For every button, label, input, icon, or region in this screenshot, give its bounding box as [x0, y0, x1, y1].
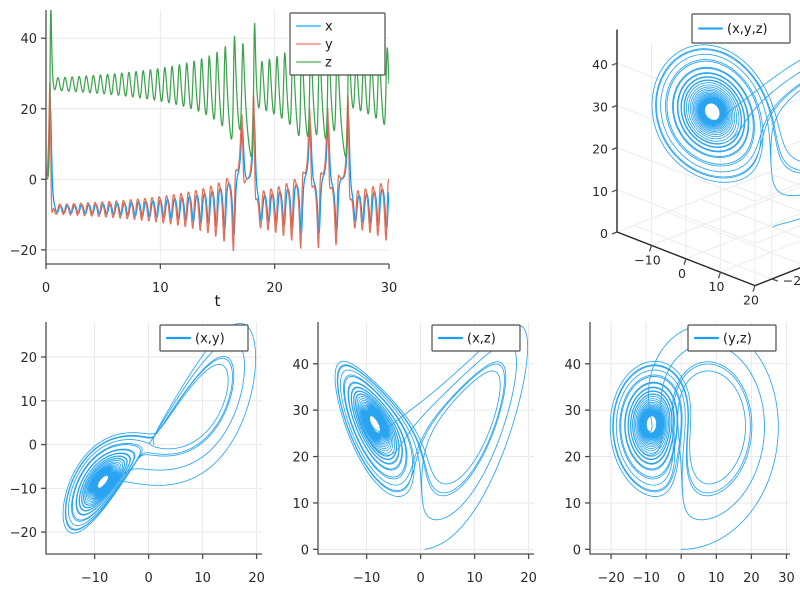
x-tick-label: 0	[144, 571, 152, 586]
x-tick-label: −10	[634, 252, 660, 267]
x-tick-label: 10	[194, 571, 211, 586]
panel-attractor3d: 010203040−1001020−20−1001020(x,y,z)	[400, 0, 800, 310]
z-tick-label: 20	[592, 142, 608, 157]
phase-xz-plot: −1001020010203040(x,z)	[272, 308, 544, 600]
x-tick-label: 20	[743, 293, 759, 308]
z-axis-ticks: 010203040	[592, 57, 617, 241]
x-tick-label: 30	[381, 281, 398, 296]
x-tick-label: −10	[632, 571, 659, 586]
z-tick-label: 30	[592, 99, 608, 114]
y-tick-label: 10	[292, 497, 309, 512]
x-tick-label: 20	[248, 571, 265, 586]
x-tick-label: 10	[708, 571, 725, 586]
y-tick-label: 10	[20, 395, 37, 410]
series-(x,y)	[63, 323, 256, 533]
y-axis-ticks: −2002040	[10, 32, 46, 259]
y-tick-label: 20	[20, 351, 37, 366]
axes	[318, 322, 534, 554]
x-tick-label: 0	[416, 571, 424, 586]
legend[interactable]: (y,z)	[688, 325, 776, 351]
y-tick-label: −10	[10, 482, 37, 497]
x-tick-label: 20	[743, 571, 760, 586]
y-tick-label: 0	[29, 439, 37, 454]
z-tick-label: 40	[592, 57, 608, 72]
series-(y,z)	[610, 325, 778, 549]
y-tick-label: 0	[29, 173, 37, 188]
x-tick-label: 10	[466, 571, 483, 586]
series-(x,y,z)	[652, 34, 800, 227]
y-tick-label: 20	[564, 451, 581, 466]
x-axis-ticks: −20−100102030	[597, 554, 794, 586]
data-trace-group	[335, 325, 528, 549]
y-tick-label: −20	[10, 526, 37, 541]
x-tick-label: 20	[520, 571, 537, 586]
phase-yz-plot: −20−100102030010203040(y,z)	[544, 308, 800, 600]
gridlines	[318, 322, 534, 554]
y-tick-label: 10	[564, 497, 581, 512]
series-(x,z)	[335, 325, 528, 549]
legend[interactable]: xyz	[290, 13, 385, 75]
legend[interactable]: (x,z)	[432, 325, 520, 351]
y-tick-label: 0	[573, 543, 581, 558]
phase-xy-plot: −1001020−20−1001020(x,y)	[0, 308, 272, 600]
x-tick-label: 0	[42, 281, 50, 296]
legend-label-z: z	[325, 56, 332, 71]
x-axis-ticks: −1001020	[81, 554, 265, 586]
y-tick-label: 40	[20, 32, 37, 47]
y-tick-label: 30	[292, 404, 309, 419]
z-tick-label: 0	[600, 226, 608, 241]
y-tick-label: 40	[564, 358, 581, 373]
x-tick-label: −20	[597, 571, 624, 586]
panel-phase-xy: −1001020−20−1001020(x,y)	[0, 308, 272, 600]
x-tick-label: −10	[81, 571, 108, 586]
timeseries-plot: 0102030−2002040txyz	[0, 0, 400, 310]
attractor3d-plot: 010203040−1001020−20−1001020(x,y,z)	[400, 0, 800, 310]
x-axis-ticks: −1001020	[353, 554, 537, 586]
legend-label-(x,z): (x,z)	[467, 332, 496, 347]
y-tick-label: 40	[292, 358, 309, 373]
y-tick-label: 20	[292, 451, 309, 466]
y-axis-ticks: 010203040	[564, 358, 590, 559]
legend-label-y: y	[325, 38, 333, 53]
y-axis-ticks: 010203040	[292, 358, 318, 559]
legend-label-xyz: (x,y,z)	[727, 22, 768, 37]
legend-label-x: x	[325, 20, 333, 35]
panel-phase-xz: −1001020010203040(x,z)	[272, 308, 544, 600]
x-tick-label: 0	[677, 571, 685, 586]
y-tick-label: 0	[301, 543, 309, 558]
y-tick-label: 20	[20, 103, 37, 118]
x-tick-label: 10	[152, 281, 169, 296]
x-tick-label: 0	[678, 266, 686, 281]
panel-phase-yz: −20−100102030010203040(y,z)	[544, 308, 800, 600]
z-tick-label: 10	[592, 184, 608, 199]
legend-label-(y,z): (y,z)	[723, 332, 752, 347]
legend-label-(x,y): (x,y)	[195, 332, 225, 347]
x-tick-label: 30	[778, 571, 795, 586]
y-tick-label: −20	[10, 244, 37, 259]
y-tick-label: 30	[564, 404, 581, 419]
x-tick-label: −10	[353, 571, 380, 586]
data-trace-group	[610, 325, 778, 549]
data-trace-group	[63, 323, 256, 533]
y-axis-ticks: −20−1001020	[10, 351, 46, 541]
legend[interactable]: (x,y)	[160, 325, 248, 351]
panel-timeseries: 0102030−2002040txyz	[0, 0, 400, 310]
axes-3d	[617, 29, 800, 285]
y-tick-label: −20	[783, 273, 800, 288]
x-tick-label: 20	[266, 281, 283, 296]
legend[interactable]: (x,y,z)	[692, 14, 790, 43]
x-tick-label: 10	[709, 279, 725, 294]
